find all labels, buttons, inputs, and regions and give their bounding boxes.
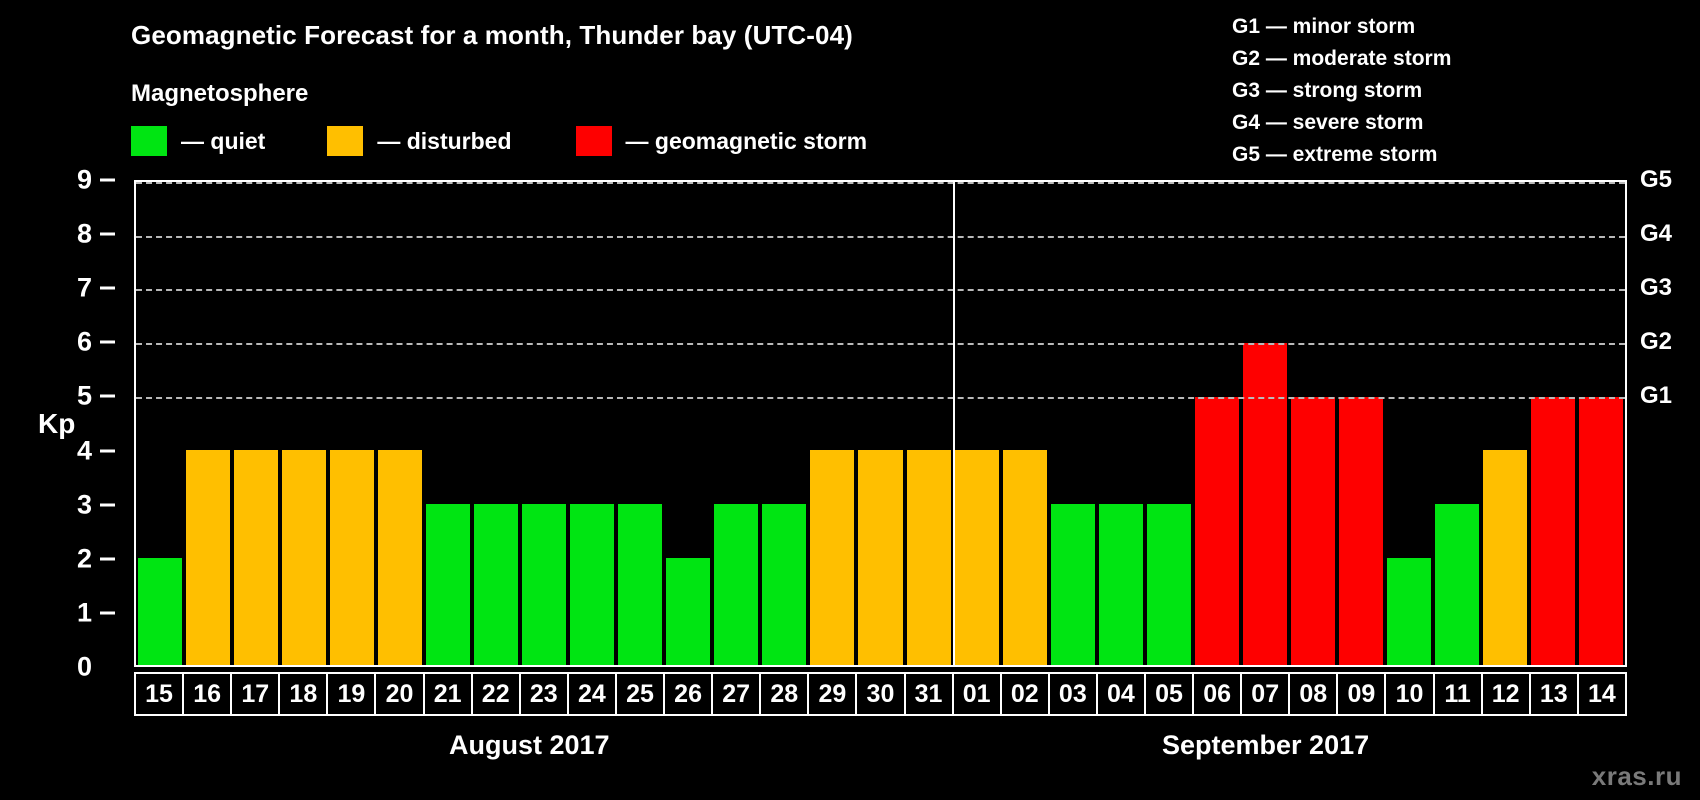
day-label-12[interactable]: 12	[1483, 674, 1531, 714]
gscale-row-g2: G2 — moderate storm	[1232, 43, 1451, 75]
y-tick-mark-5	[100, 395, 115, 398]
g-tick-label-g5: G5	[1640, 166, 1672, 194]
gridline-kp-6	[136, 343, 1625, 345]
bar-cell[interactable]	[1193, 182, 1241, 665]
legend-swatch-disturbed	[327, 126, 363, 156]
day-label-23[interactable]: 23	[521, 674, 569, 714]
y-tick-label-9: 9	[77, 165, 92, 196]
bar-cell[interactable]	[520, 182, 568, 665]
bar-disturbed	[955, 450, 999, 665]
gridline-kp-5	[136, 397, 1625, 399]
bar-cell[interactable]	[1289, 182, 1337, 665]
magnetosphere-label: Magnetosphere	[131, 80, 308, 108]
y-tick-mark-6	[100, 341, 115, 344]
bar-quiet	[426, 504, 470, 665]
y-tick-mark-3	[100, 503, 115, 506]
gscale-row-g1: G1 — minor storm	[1232, 11, 1451, 43]
legend-item-storm: — geomagnetic storm	[576, 126, 868, 156]
gscale-row-g5: G5 — extreme storm	[1232, 139, 1451, 171]
legend-swatch-storm	[576, 126, 612, 156]
bar-cell[interactable]	[1529, 182, 1577, 665]
bar-cell[interactable]	[616, 182, 664, 665]
y-tick-mark-1	[100, 611, 115, 614]
bar-cell[interactable]	[953, 182, 1001, 665]
y-tick-mark-8	[100, 233, 115, 236]
day-label-22[interactable]: 22	[473, 674, 521, 714]
bar-disturbed	[378, 450, 422, 665]
g-tick-label-g3: G3	[1640, 274, 1672, 302]
bar-cell[interactable]	[1097, 182, 1145, 665]
chart-plot-area	[134, 180, 1627, 667]
y-tick-label-7: 7	[77, 273, 92, 304]
day-label-30[interactable]: 30	[857, 674, 905, 714]
gridline-kp-9	[136, 182, 1625, 184]
bar-quiet	[1099, 504, 1143, 665]
g-tick-label-g2: G2	[1640, 328, 1672, 356]
chart-plot-inner	[136, 182, 1625, 665]
day-label-20[interactable]: 20	[376, 674, 424, 714]
legend-label-quiet: — quiet	[181, 128, 265, 155]
y-tick-label-2: 2	[77, 543, 92, 574]
day-label-11[interactable]: 11	[1435, 674, 1483, 714]
day-label-02[interactable]: 02	[1002, 674, 1050, 714]
day-label-03[interactable]: 03	[1050, 674, 1098, 714]
bar-storm	[1291, 397, 1335, 665]
legend-label-storm: — geomagnetic storm	[626, 128, 868, 155]
month-divider-line	[953, 182, 955, 665]
bar-quiet	[474, 504, 518, 665]
day-label-09[interactable]: 09	[1338, 674, 1386, 714]
day-label-18[interactable]: 18	[280, 674, 328, 714]
bar-disturbed	[810, 450, 854, 665]
month-caption-september: September 2017	[1162, 730, 1369, 761]
y-tick-label-4: 4	[77, 435, 92, 466]
day-label-31[interactable]: 31	[906, 674, 954, 714]
day-label-15[interactable]: 15	[136, 674, 184, 714]
bar-quiet	[666, 558, 710, 665]
gridline-kp-7	[136, 289, 1625, 291]
y-tick-label-3: 3	[77, 489, 92, 520]
bar-storm	[1579, 397, 1623, 665]
day-label-29[interactable]: 29	[809, 674, 857, 714]
day-label-19[interactable]: 19	[328, 674, 376, 714]
y-tick-label-0: 0	[77, 652, 92, 683]
bar-cell[interactable]	[232, 182, 280, 665]
y-axis-gscale: G1G2G3G4G5	[1629, 180, 1700, 667]
legend-swatch-quiet	[131, 126, 167, 156]
month-caption-august: August 2017	[449, 730, 610, 761]
bar-disturbed	[282, 450, 326, 665]
g-tick-label-g1: G1	[1640, 382, 1672, 410]
day-label-10[interactable]: 10	[1386, 674, 1434, 714]
bar-cell[interactable]	[856, 182, 904, 665]
y-tick-mark-4	[100, 449, 115, 452]
day-label-21[interactable]: 21	[425, 674, 473, 714]
watermark: xras.ru	[1592, 761, 1682, 792]
bar-cell[interactable]	[472, 182, 520, 665]
bar-cell[interactable]	[1049, 182, 1097, 665]
day-label-24[interactable]: 24	[569, 674, 617, 714]
bar-storm	[1339, 397, 1383, 665]
bar-quiet	[570, 504, 614, 665]
y-tick-mark-2	[100, 557, 115, 560]
bar-cell[interactable]	[760, 182, 808, 665]
bar-series	[136, 182, 1625, 665]
day-label-14[interactable]: 14	[1579, 674, 1625, 714]
bar-quiet	[522, 504, 566, 665]
bar-cell[interactable]	[376, 182, 424, 665]
bar-storm	[1531, 397, 1575, 665]
day-label-01[interactable]: 01	[954, 674, 1002, 714]
bar-cell[interactable]	[184, 182, 232, 665]
bar-quiet	[762, 504, 806, 665]
y-tick-mark-7	[100, 287, 115, 290]
bar-storm	[1243, 343, 1287, 665]
bar-cell[interactable]	[1385, 182, 1433, 665]
bar-cell[interactable]	[1145, 182, 1193, 665]
legend-label-disturbed: — disturbed	[377, 128, 511, 155]
day-label-04[interactable]: 04	[1098, 674, 1146, 714]
day-label-row: 1516171819202122232425262728293031010203…	[134, 672, 1627, 716]
bar-cell[interactable]	[424, 182, 472, 665]
day-label-05[interactable]: 05	[1146, 674, 1194, 714]
bar-disturbed	[330, 450, 374, 665]
page-title: Geomagnetic Forecast for a month, Thunde…	[131, 20, 853, 51]
y-tick-mark-9	[100, 179, 115, 182]
y-tick-label-6: 6	[77, 327, 92, 358]
magnetosphere-legend: — quiet — disturbed — geomagnetic storm	[131, 126, 867, 156]
gscale-row-g4: G4 — severe storm	[1232, 107, 1451, 139]
bar-cell[interactable]	[1001, 182, 1049, 665]
day-label-08[interactable]: 08	[1290, 674, 1338, 714]
y-tick-label-5: 5	[77, 381, 92, 412]
y-axis-title: Kp	[38, 408, 75, 440]
day-label-13[interactable]: 13	[1531, 674, 1579, 714]
y-tick-label-1: 1	[77, 597, 92, 628]
gscale-row-g3: G3 — strong storm	[1232, 75, 1451, 107]
bar-quiet	[1435, 504, 1479, 665]
gscale-legend: G1 — minor storm G2 — moderate storm G3 …	[1232, 11, 1451, 171]
bar-disturbed	[1483, 450, 1527, 665]
bar-cell[interactable]	[712, 182, 760, 665]
legend-item-disturbed: — disturbed	[327, 126, 511, 156]
bar-cell[interactable]	[1337, 182, 1385, 665]
bar-disturbed	[186, 450, 230, 665]
bar-disturbed	[907, 450, 951, 665]
bar-disturbed	[858, 450, 902, 665]
g-tick-label-g4: G4	[1640, 220, 1672, 248]
bar-cell[interactable]	[568, 182, 616, 665]
bar-quiet	[1387, 558, 1431, 665]
y-tick-label-8: 8	[77, 219, 92, 250]
bar-cell[interactable]	[328, 182, 376, 665]
bar-quiet	[138, 558, 182, 665]
day-label-16[interactable]: 16	[184, 674, 232, 714]
bar-quiet	[1051, 504, 1095, 665]
bar-disturbed	[1003, 450, 1047, 665]
bar-cell[interactable]	[905, 182, 953, 665]
bar-disturbed	[234, 450, 278, 665]
bar-quiet	[618, 504, 662, 665]
bar-quiet	[714, 504, 758, 665]
legend-item-quiet: — quiet	[131, 126, 265, 156]
day-label-06[interactable]: 06	[1194, 674, 1242, 714]
bar-cell[interactable]	[136, 182, 184, 665]
gridline-kp-8	[136, 236, 1625, 238]
day-label-28[interactable]: 28	[761, 674, 809, 714]
day-label-26[interactable]: 26	[665, 674, 713, 714]
day-label-25[interactable]: 25	[617, 674, 665, 714]
y-axis-kp: Kp 0123456789	[0, 180, 134, 667]
bar-quiet	[1147, 504, 1191, 665]
bar-cell[interactable]	[1577, 182, 1625, 665]
bar-cell[interactable]	[1481, 182, 1529, 665]
bar-cell[interactable]	[808, 182, 856, 665]
bar-cell[interactable]	[664, 182, 712, 665]
day-label-07[interactable]: 07	[1242, 674, 1290, 714]
bar-cell[interactable]	[1433, 182, 1481, 665]
bar-cell[interactable]	[280, 182, 328, 665]
bar-cell[interactable]	[1241, 182, 1289, 665]
day-label-17[interactable]: 17	[232, 674, 280, 714]
day-label-27[interactable]: 27	[713, 674, 761, 714]
bar-storm	[1195, 397, 1239, 665]
